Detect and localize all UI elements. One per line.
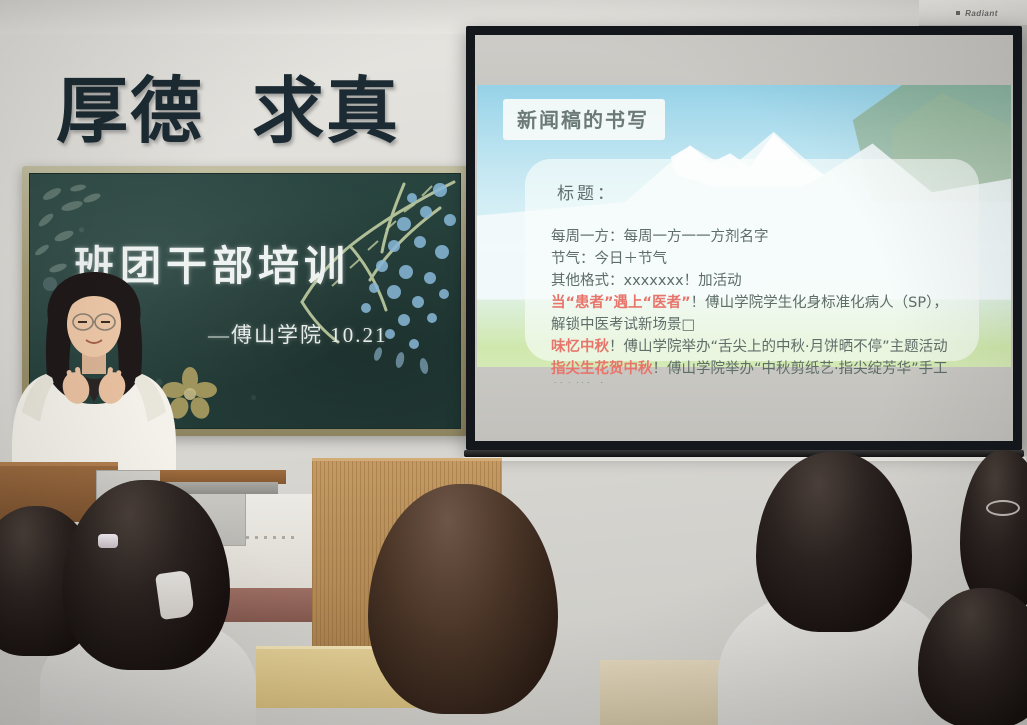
- slide-title: 新闻稿的书写: [517, 108, 649, 132]
- student-head-center: [368, 484, 558, 714]
- slide-title-box: 新闻稿的书写: [503, 99, 665, 140]
- slide-projection: 新闻稿的书写 标题： 每周一方：每周一方一一方剂名字 节气：今日＋节气 其他格式…: [477, 85, 1011, 383]
- slide-line: 每周一方：每周一方一一方剂名字: [551, 226, 957, 248]
- slide-line: 其他格式：xxxxxxx！加活动: [551, 270, 957, 292]
- student-head-right-lower: [918, 588, 1027, 725]
- slide-content-card: 标题： 每周一方：每周一方一一方剂名字 节气：今日＋节气 其他格式：xxxxxx…: [525, 159, 979, 361]
- screen-bottom-rail: [464, 450, 1024, 457]
- slide-line-text: 每周一方：每周一方一一方剂名字: [551, 229, 769, 245]
- device-brand-plate: Radiant: [931, 3, 1023, 23]
- face-mask: [155, 570, 195, 620]
- projector-screen-surface: 新闻稿的书写 标题： 每周一方：每周一方一一方剂名字 节气：今日＋节气 其他格式…: [475, 35, 1013, 441]
- brand-label: Radiant: [965, 9, 998, 18]
- student-head-left: [62, 480, 230, 670]
- slide-line-highlight: 指尖生花贺中秋: [551, 361, 653, 377]
- classroom-photo: Radiant 厚德 求真: [0, 0, 1027, 725]
- hair-clip: [98, 534, 118, 548]
- student-head-right-far: [960, 450, 1027, 610]
- slide-line-text: ！傅山学院举办“舌尖上的中秋·月饼晒不停”主题活动: [609, 339, 948, 355]
- slide-line: 味忆中秋！傅山学院举办“舌尖上的中秋·月饼晒不停”主题活动: [551, 336, 957, 358]
- screen-rail-lip: [462, 457, 1026, 461]
- slide-body-lines: 每周一方：每周一方一一方剂名字 节气：今日＋节气 其他格式：xxxxxxx！加活…: [551, 226, 957, 383]
- slide-line-text: 其他格式：xxxxxxx！加活动: [551, 273, 742, 289]
- presenter-figure: [6, 262, 182, 492]
- slide-line: 当“患者”遇上“医者”！傅山学院学生化身标准化病人（SP），解锁中医考试新场景□: [551, 292, 957, 336]
- slide-line-highlight: 当“患者”遇上“医者”: [551, 295, 691, 311]
- slide-card-heading: 标题：: [557, 179, 957, 204]
- slide-line-text: 节气：今日＋节气: [551, 251, 667, 267]
- student-glasses: [986, 500, 1020, 516]
- student-head-right: [756, 452, 912, 632]
- slide-line: 指尖生花贺中秋！傅山学院举办“中秋剪纸艺·指尖绽芳华”手工剪纸比赛: [551, 358, 957, 383]
- projector-screen-frame: 新闻稿的书写 标题： 每周一方：每周一方一一方剂名字 节气：今日＋节气 其他格式…: [466, 26, 1022, 450]
- slide-line-highlight: 味忆中秋: [551, 339, 609, 355]
- wall-motto-part2: 求真: [252, 76, 400, 148]
- wall-motto: 厚德 求真: [56, 62, 396, 162]
- blackboard-signature: —傅山学院 10.21: [208, 319, 388, 349]
- screen-top-band: [475, 35, 1013, 85]
- wall-motto-part1: 厚德: [56, 76, 204, 148]
- brand-dot-icon: [956, 11, 960, 15]
- slide-line: 节气：今日＋节气: [551, 248, 957, 270]
